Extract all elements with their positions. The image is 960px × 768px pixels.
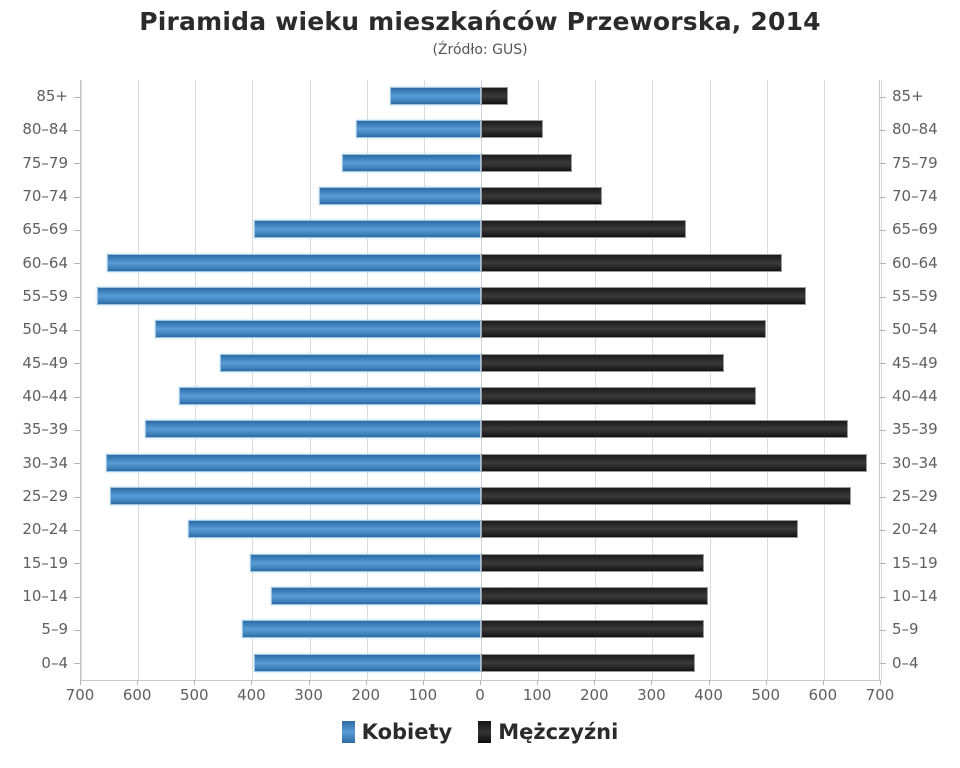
y-axis-tick <box>880 297 886 298</box>
age-group-label-left: 40–44 <box>0 380 68 412</box>
bar-mezczyzni[interactable] <box>481 420 848 438</box>
age-group-label-left: 75–79 <box>0 147 68 179</box>
x-axis-tick <box>594 680 595 685</box>
bar-mezczyzni[interactable] <box>481 154 572 172</box>
pyramid-row <box>81 180 881 212</box>
x-axis-label: 400 <box>679 686 739 704</box>
age-group-label-right: 85+ <box>892 80 960 112</box>
x-axis-tick <box>137 680 138 685</box>
pyramid-row <box>81 480 881 512</box>
bar-mezczyzni[interactable] <box>481 120 543 138</box>
y-axis-tick <box>880 497 886 498</box>
x-axis-tick <box>537 680 538 685</box>
bar-kobiety[interactable] <box>254 220 481 238</box>
x-axis-label: 500 <box>736 686 796 704</box>
bar-kobiety[interactable] <box>145 420 481 438</box>
gridline <box>881 80 882 680</box>
age-group-label-right: 5–9 <box>892 613 960 645</box>
title-block: Piramida wieku mieszkańców Przeworska, 2… <box>0 6 960 60</box>
chart-subtitle: (Źródło: GUS) <box>0 40 960 60</box>
y-axis-tick <box>74 463 80 464</box>
x-axis-tick <box>651 680 652 685</box>
age-group-label-right: 60–64 <box>892 247 960 279</box>
y-axis-tick <box>74 430 80 431</box>
pyramid-row <box>81 647 881 679</box>
x-axis-label: 600 <box>793 686 853 704</box>
y-axis-tick <box>74 397 80 398</box>
y-axis-tick <box>880 630 886 631</box>
age-group-label-right: 25–29 <box>892 480 960 512</box>
bar-mezczyzni[interactable] <box>481 587 708 605</box>
x-axis-label: 300 <box>621 686 681 704</box>
y-axis-tick <box>74 297 80 298</box>
bar-mezczyzni[interactable] <box>481 254 782 272</box>
x-axis-label: 200 <box>564 686 624 704</box>
y-axis-tick <box>880 530 886 531</box>
age-group-label-right: 45–49 <box>892 347 960 379</box>
y-axis-tick <box>74 563 80 564</box>
legend-label-kobiety: Kobiety <box>362 720 453 744</box>
pyramid-row <box>81 413 881 445</box>
x-axis-tick <box>823 680 824 685</box>
pyramid-row <box>81 613 881 645</box>
bar-kobiety[interactable] <box>242 620 481 638</box>
age-group-label-left: 45–49 <box>0 347 68 379</box>
bar-mezczyzni[interactable] <box>481 654 695 672</box>
pyramid-row <box>81 113 881 145</box>
bar-kobiety[interactable] <box>250 554 481 572</box>
y-axis-tick <box>880 130 886 131</box>
y-axis-tick <box>74 663 80 664</box>
x-axis-label: 100 <box>507 686 567 704</box>
bar-mezczyzni[interactable] <box>481 320 766 338</box>
age-group-label-left: 30–34 <box>0 447 68 479</box>
bar-mezczyzni[interactable] <box>481 520 798 538</box>
age-group-label-right: 30–34 <box>892 447 960 479</box>
x-axis-label: 700 <box>50 686 110 704</box>
y-axis-tick <box>880 163 886 164</box>
age-group-label-right: 20–24 <box>892 513 960 545</box>
pyramid-row <box>81 147 881 179</box>
legend-label-mezczyzni: Mężczyźni <box>498 720 618 744</box>
pyramid-row <box>81 380 881 412</box>
y-axis-tick <box>74 97 80 98</box>
y-axis-tick <box>74 630 80 631</box>
bar-kobiety[interactable] <box>107 254 481 272</box>
x-axis-label: 400 <box>221 686 281 704</box>
bar-kobiety[interactable] <box>319 187 481 205</box>
x-axis-tick <box>766 680 767 685</box>
x-axis-tick <box>251 680 252 685</box>
bar-mezczyzni[interactable] <box>481 220 686 238</box>
age-group-label-left: 80–84 <box>0 113 68 145</box>
pyramid-row <box>81 513 881 545</box>
bar-kobiety[interactable] <box>220 354 481 372</box>
y-axis-tick <box>74 363 80 364</box>
bar-kobiety[interactable] <box>188 520 481 538</box>
pyramid-row <box>81 313 881 345</box>
age-group-label-left: 20–24 <box>0 513 68 545</box>
y-axis-tick <box>880 563 886 564</box>
y-axis-tick <box>880 463 886 464</box>
pyramid-row <box>81 547 881 579</box>
age-group-label-right: 40–44 <box>892 380 960 412</box>
male-swatch-icon <box>478 721 491 743</box>
pyramid-row <box>81 447 881 479</box>
y-axis-tick <box>880 230 886 231</box>
age-group-label-left: 85+ <box>0 80 68 112</box>
x-axis-tick <box>80 680 81 685</box>
y-axis-tick <box>74 163 80 164</box>
chart-legend: Kobiety Mężczyźni <box>0 720 960 744</box>
y-axis-tick <box>74 230 80 231</box>
bar-kobiety[interactable] <box>110 487 481 505</box>
y-axis-tick <box>74 530 80 531</box>
x-axis-label: 100 <box>393 686 453 704</box>
y-axis-tick <box>880 363 886 364</box>
pyramid-row <box>81 280 881 312</box>
y-axis-tick <box>880 663 886 664</box>
age-group-label-right: 65–69 <box>892 213 960 245</box>
y-axis-tick <box>880 397 886 398</box>
y-axis-tick <box>880 197 886 198</box>
y-axis-tick <box>880 97 886 98</box>
x-axis-label: 500 <box>164 686 224 704</box>
x-axis-tick <box>880 680 881 685</box>
pyramid-row <box>81 247 881 279</box>
bar-mezczyzni[interactable] <box>481 487 851 505</box>
age-group-label-left: 55–59 <box>0 280 68 312</box>
x-axis-tick <box>309 680 310 685</box>
x-axis-label: 0 <box>450 686 510 704</box>
bar-mezczyzni[interactable] <box>481 87 508 105</box>
bar-mezczyzni[interactable] <box>481 187 602 205</box>
y-axis-tick <box>74 597 80 598</box>
age-group-label-left: 25–29 <box>0 480 68 512</box>
age-group-label-left: 65–69 <box>0 213 68 245</box>
y-axis-tick <box>74 330 80 331</box>
bar-mezczyzni[interactable] <box>481 287 806 305</box>
age-group-label-left: 5–9 <box>0 613 68 645</box>
y-axis-tick <box>74 130 80 131</box>
x-axis-label: 600 <box>107 686 167 704</box>
page-title: Piramida wieku mieszkańców Przeworska, 2… <box>0 6 960 38</box>
age-group-label-right: 55–59 <box>892 280 960 312</box>
legend-item-mezczyzni[interactable]: Mężczyźni <box>478 720 618 744</box>
pyramid-row <box>81 80 881 112</box>
bar-kobiety[interactable] <box>179 387 481 405</box>
pyramid-row <box>81 580 881 612</box>
bar-mezczyzni[interactable] <box>481 354 724 372</box>
population-pyramid-chart: Piramida wieku mieszkańców Przeworska, 2… <box>0 0 960 768</box>
y-axis-tick <box>74 197 80 198</box>
legend-item-kobiety[interactable]: Kobiety <box>342 720 453 744</box>
bar-kobiety[interactable] <box>342 154 481 172</box>
age-group-label-left: 60–64 <box>0 247 68 279</box>
bar-mezczyzni[interactable] <box>481 387 756 405</box>
age-group-label-right: 15–19 <box>892 547 960 579</box>
age-group-label-right: 35–39 <box>892 413 960 445</box>
x-axis-tick <box>423 680 424 685</box>
bar-mezczyzni[interactable] <box>481 620 704 638</box>
x-axis-tick <box>366 680 367 685</box>
age-group-label-right: 50–54 <box>892 313 960 345</box>
y-axis-tick <box>74 263 80 264</box>
y-axis-tick <box>880 263 886 264</box>
x-axis-tick <box>480 680 481 685</box>
bar-mezczyzni[interactable] <box>481 554 704 572</box>
age-group-label-left: 35–39 <box>0 413 68 445</box>
age-group-label-right: 10–14 <box>892 580 960 612</box>
y-axis-tick <box>880 330 886 331</box>
bar-kobiety[interactable] <box>271 587 481 605</box>
age-group-label-right: 70–74 <box>892 180 960 212</box>
bar-kobiety[interactable] <box>356 120 481 138</box>
bar-kobiety[interactable] <box>106 454 481 472</box>
x-axis-label: 200 <box>336 686 396 704</box>
age-group-label-right: 0–4 <box>892 647 960 679</box>
y-axis-tick <box>880 430 886 431</box>
x-axis-tick <box>194 680 195 685</box>
bar-kobiety[interactable] <box>155 320 481 338</box>
age-group-label-right: 80–84 <box>892 113 960 145</box>
age-group-label-left: 10–14 <box>0 580 68 612</box>
bar-kobiety[interactable] <box>254 654 481 672</box>
age-group-label-left: 15–19 <box>0 547 68 579</box>
female-swatch-icon <box>342 721 355 743</box>
bar-kobiety[interactable] <box>390 87 481 105</box>
bar-kobiety[interactable] <box>97 287 481 305</box>
y-axis-tick <box>74 497 80 498</box>
age-group-label-left: 70–74 <box>0 180 68 212</box>
x-axis-label: 700 <box>850 686 910 704</box>
y-axis-tick <box>880 597 886 598</box>
bar-mezczyzni[interactable] <box>481 454 867 472</box>
x-axis-tick <box>709 680 710 685</box>
pyramid-row <box>81 213 881 245</box>
x-axis-label: 300 <box>279 686 339 704</box>
plot-area <box>80 80 880 680</box>
pyramid-row <box>81 347 881 379</box>
age-group-label-left: 50–54 <box>0 313 68 345</box>
age-group-label-right: 75–79 <box>892 147 960 179</box>
age-group-label-left: 0–4 <box>0 647 68 679</box>
